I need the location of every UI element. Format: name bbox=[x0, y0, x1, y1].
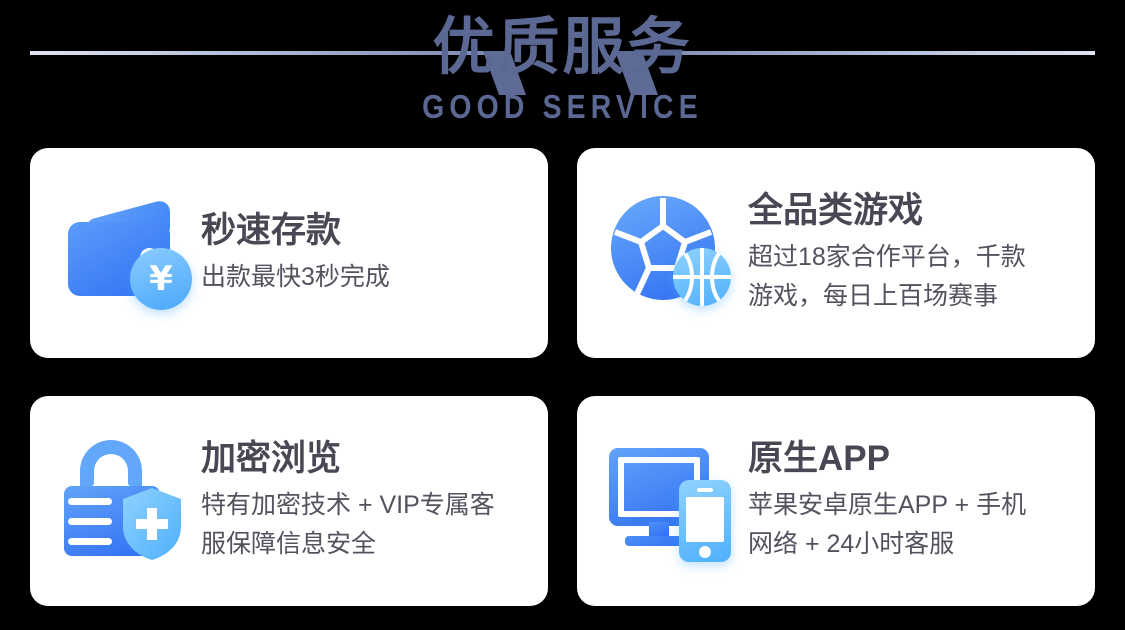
feature-card-subtitle: 苹果安卓原生APP + 手机 网络 + 24小时客服 bbox=[748, 486, 1073, 564]
soccer-ball-icon bbox=[605, 186, 740, 321]
feature-card-subtitle: 超过18家合作平台，千款 游戏，每日上百场赛事 bbox=[748, 238, 1073, 316]
shield-plus-icon bbox=[120, 486, 184, 562]
feature-card-text: 秒速存款 出款最快3秒完成 bbox=[201, 210, 526, 297]
feature-card-subtitle: 出款最快3秒完成 bbox=[201, 258, 526, 297]
promo-page: 优质服务 GOOD SERVICE ¥ 秒速存款 出款最快3秒完成 bbox=[0, 0, 1125, 630]
padlock-slot-2 bbox=[68, 518, 112, 525]
phone-home-button bbox=[699, 546, 711, 558]
feature-card-text: 原生APP 苹果安卓原生APP + 手机 网络 + 24小时客服 bbox=[748, 438, 1073, 564]
wallet-icon: ¥ bbox=[58, 186, 193, 321]
phone-screen bbox=[686, 497, 724, 542]
phone-speaker bbox=[697, 488, 713, 492]
padlock-slot-3 bbox=[68, 538, 112, 545]
feature-card-native-app[interactable]: 原生APP 苹果安卓原生APP + 手机 网络 + 24小时客服 bbox=[577, 396, 1095, 606]
feature-card-all-games[interactable]: 全品类游戏 超过18家合作平台，千款 游戏，每日上百场赛事 bbox=[577, 148, 1095, 358]
feature-card-fast-deposit[interactable]: ¥ 秒速存款 出款最快3秒完成 bbox=[30, 148, 548, 358]
yen-coin-icon: ¥ bbox=[130, 248, 192, 310]
padlock-icon bbox=[58, 434, 193, 569]
smartphone-icon bbox=[679, 480, 731, 562]
page-title: 优质服务 bbox=[0, 0, 1125, 86]
padlock-slot-1 bbox=[68, 498, 112, 505]
feature-card-title: 秒速存款 bbox=[201, 210, 526, 252]
monitor-icon bbox=[605, 434, 740, 569]
basketball-icon bbox=[673, 248, 731, 306]
page-subtitle: GOOD SERVICE bbox=[79, 86, 1047, 126]
feature-card-subtitle: 特有加密技术 + VIP专属客 服保障信息安全 bbox=[201, 486, 526, 564]
yen-symbol: ¥ bbox=[130, 248, 192, 310]
page-header: 优质服务 GOOD SERVICE bbox=[0, 0, 1125, 146]
feature-card-title: 加密浏览 bbox=[201, 438, 526, 480]
feature-card-encrypted-browsing[interactable]: 加密浏览 特有加密技术 + VIP专属客 服保障信息安全 bbox=[30, 396, 548, 606]
feature-card-title: 原生APP bbox=[748, 438, 1073, 480]
feature-card-text: 全品类游戏 超过18家合作平台，千款 游戏，每日上百场赛事 bbox=[748, 190, 1073, 316]
feature-card-title: 全品类游戏 bbox=[748, 190, 1073, 232]
header-titles: 优质服务 GOOD SERVICE bbox=[0, 0, 1125, 126]
feature-card-text: 加密浏览 特有加密技术 + VIP专属客 服保障信息安全 bbox=[201, 438, 526, 564]
feature-card-grid: ¥ 秒速存款 出款最快3秒完成 bbox=[30, 148, 1095, 606]
